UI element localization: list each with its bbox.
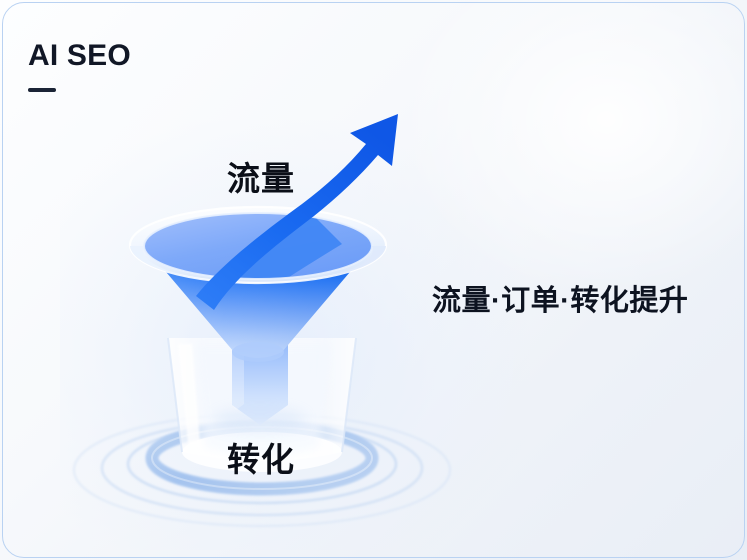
funnel-label-conversion: 转化 [227, 433, 295, 481]
funnel-label-traffic: 流量 [227, 152, 295, 200]
title-block: AI SEO [28, 38, 131, 92]
title-underline [28, 88, 56, 92]
tagline: 流量·订单·转化提升 [432, 277, 688, 319]
poster-canvas: AI SEO 流量·订单·转化提升 流量 转化 [0, 0, 747, 560]
page-title: AI SEO [28, 38, 131, 74]
